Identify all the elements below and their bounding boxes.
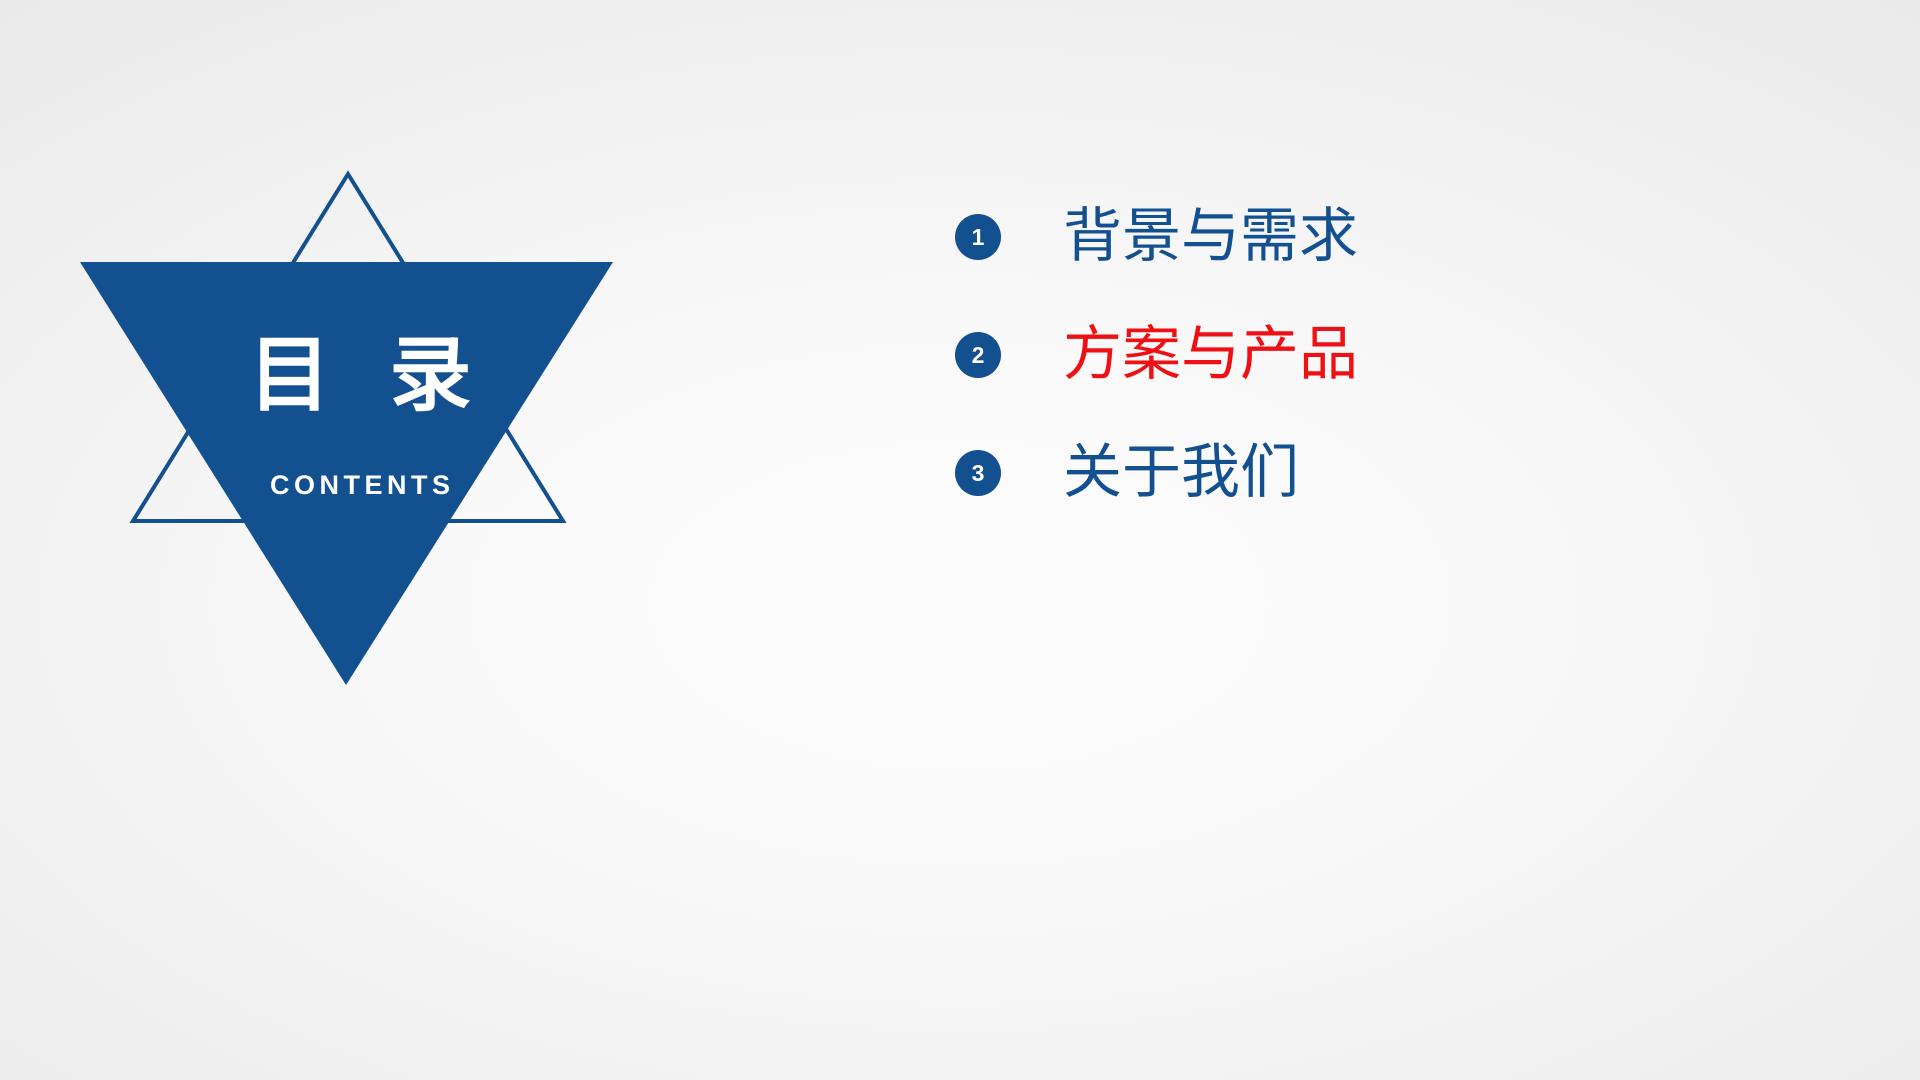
agenda-number-badge-1: 1 <box>955 214 1001 260</box>
agenda-number-badge-3: 3 <box>955 450 1001 496</box>
agenda-label-1[interactable]: 背景与需求 <box>1063 206 1358 268</box>
star-of-david-icon <box>60 150 660 720</box>
slide-root: 目 录 CONTENTS 1 背景与需求 2 方案与产品 3 关于我们 <box>0 0 1920 1080</box>
agenda-label-3[interactable]: 关于我们 <box>1063 442 1299 504</box>
agenda-item-2[interactable]: 2 方案与产品 <box>955 296 1715 414</box>
agenda-item-1[interactable]: 1 背景与需求 <box>955 178 1715 296</box>
agenda-number-badge-2: 2 <box>955 332 1001 378</box>
agenda-list: 1 背景与需求 2 方案与产品 3 关于我们 <box>955 178 1715 532</box>
contents-emblem: 目 录 CONTENTS <box>60 150 660 720</box>
agenda-label-2[interactable]: 方案与产品 <box>1063 324 1358 386</box>
agenda-item-3[interactable]: 3 关于我们 <box>955 414 1715 532</box>
